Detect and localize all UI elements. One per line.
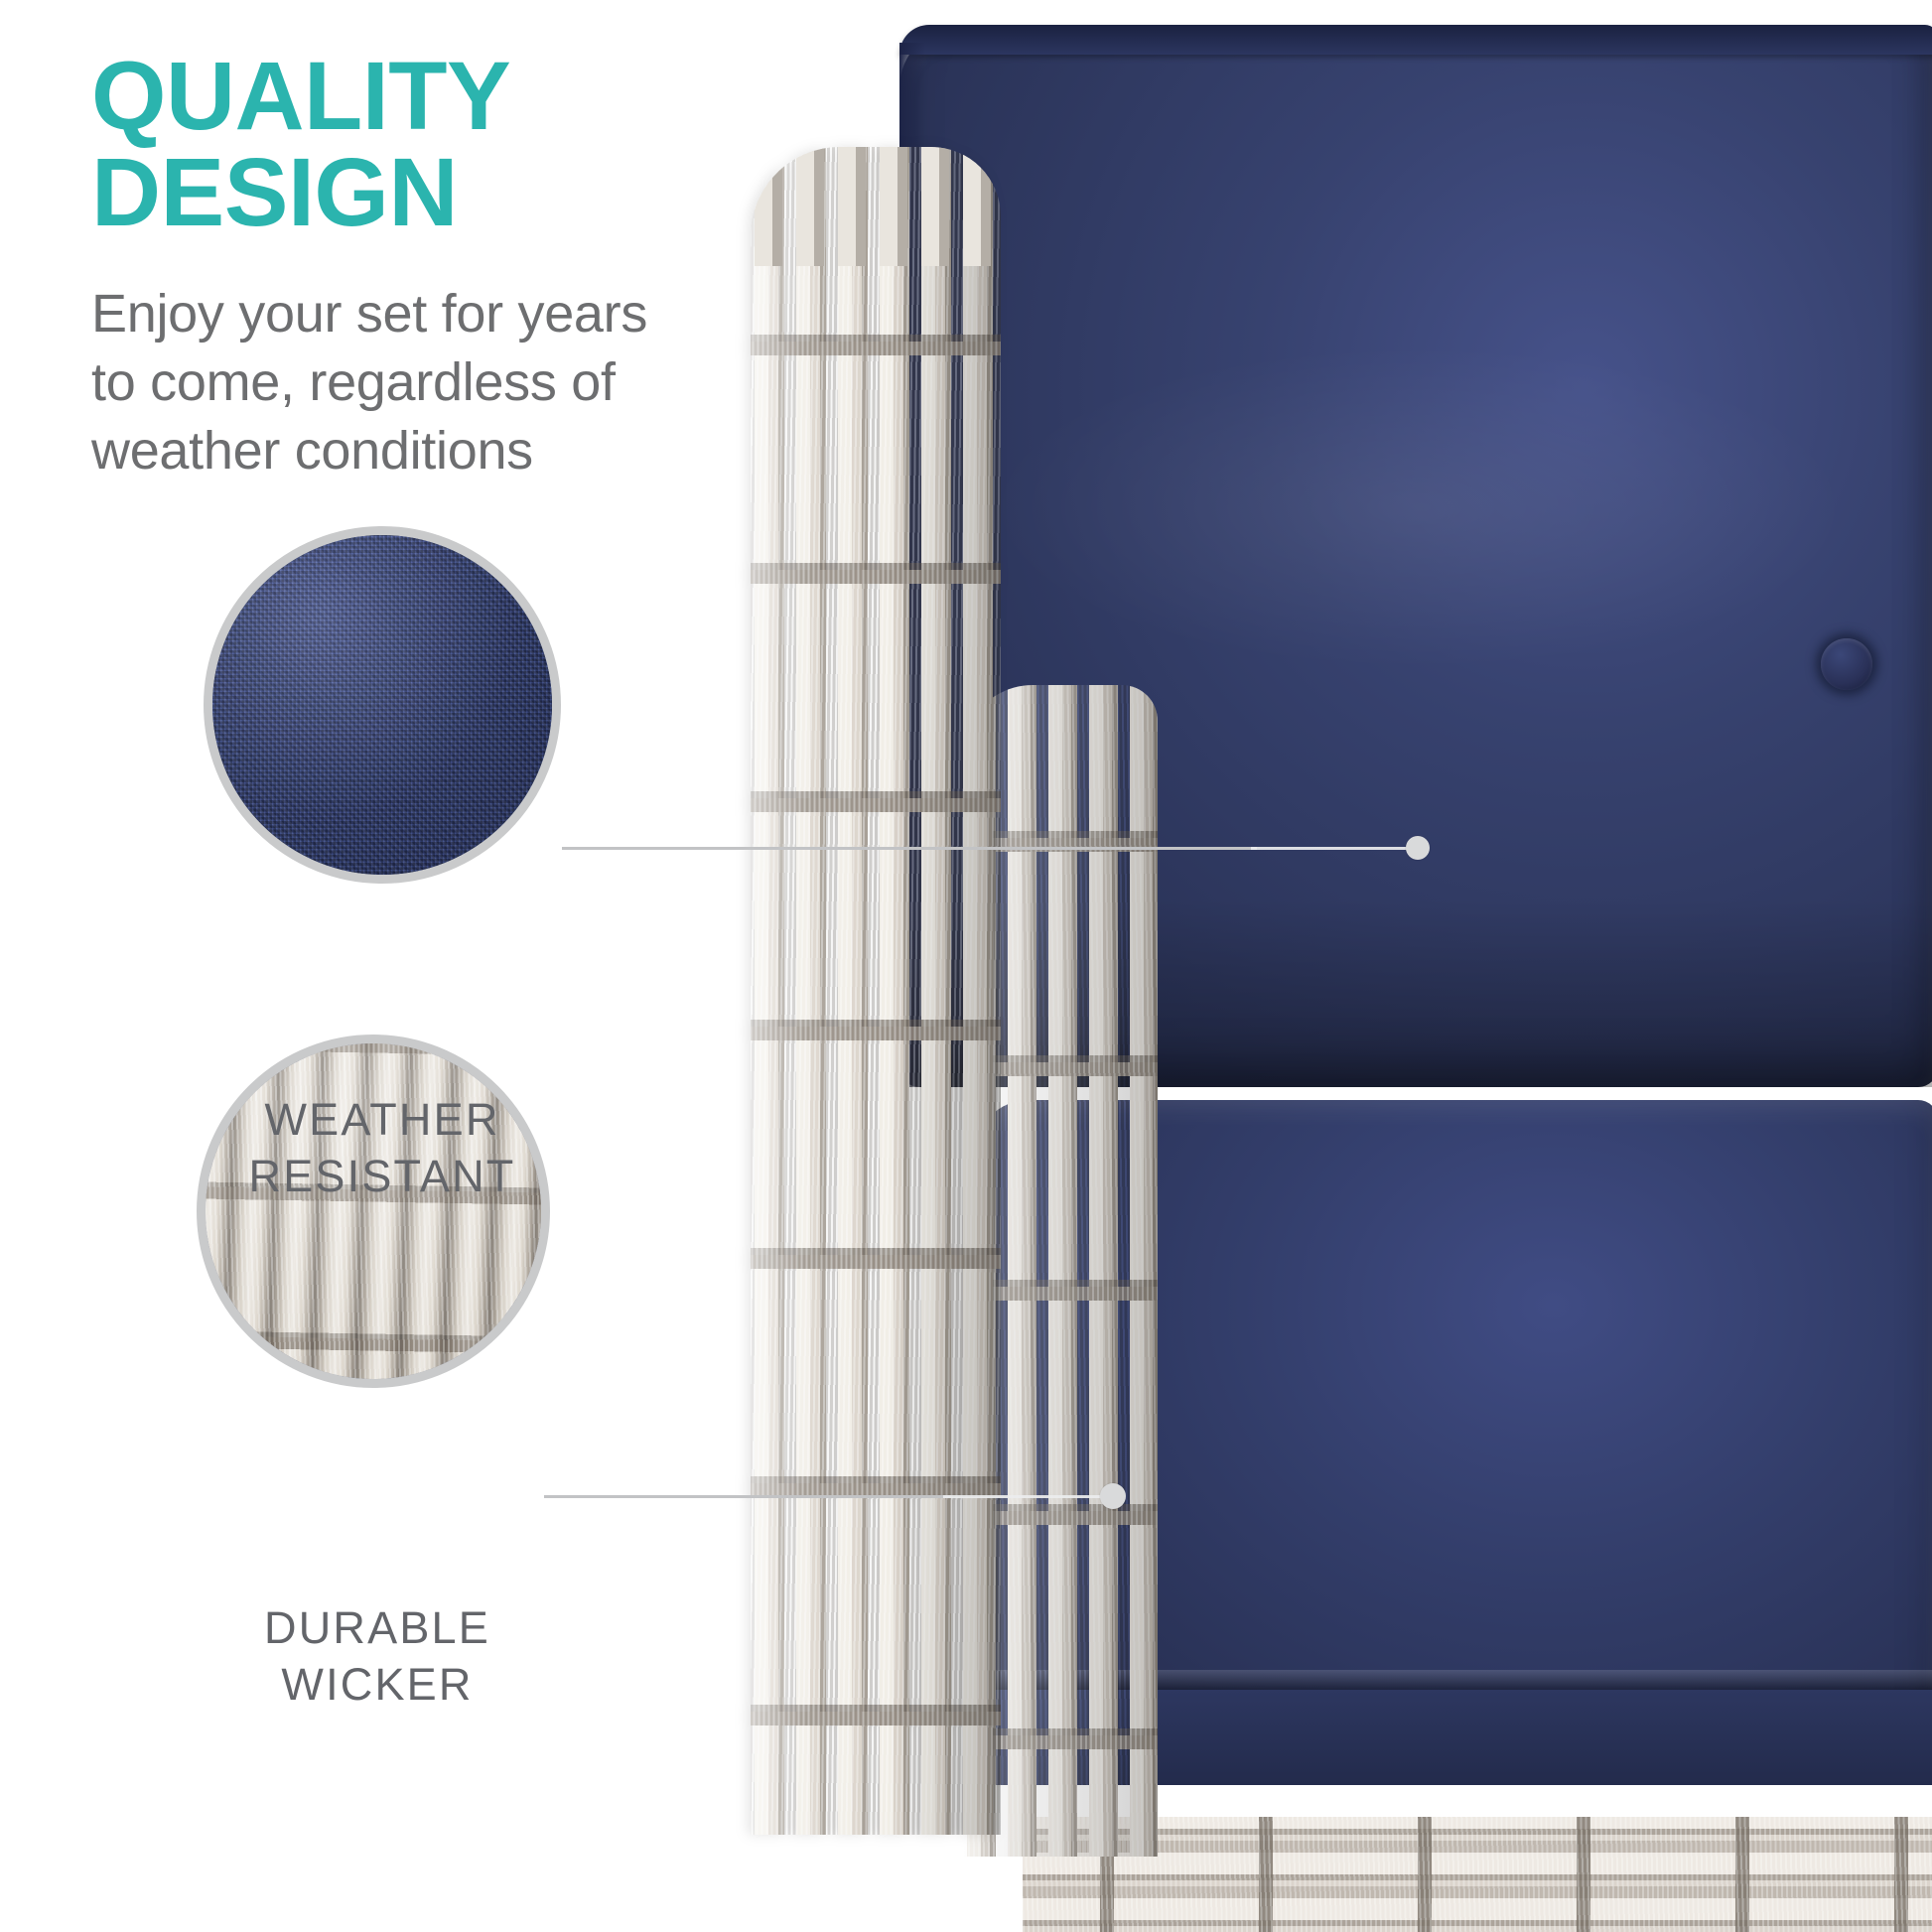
callout-dot-weather-resistant [1406,836,1430,860]
page-subheadline: Enjoy your set for years to come, regard… [91,280,766,485]
product-feature-graphic: WEATHER RESISTANT DURABLE WICKER QUALITY… [0,0,1932,1932]
callout-dot-durable-wicker [1100,1483,1126,1509]
patio-chair-photo [715,0,1932,1932]
leader-line-weather-resistant [562,847,1257,850]
label-weather-resistant: WEATHER RESISTANT [154,1092,611,1204]
navy-fabric-texture [212,535,552,875]
leader-line-durable-wicker [544,1495,951,1498]
cushion-highlight [983,344,1856,671]
swatch-weather-resistant [204,526,561,884]
fabric-sheen [212,535,552,875]
leader-line-weather-resistant-end [1251,847,1420,850]
cushion-tuft-button [1821,638,1872,690]
wicker-arm-shading [751,147,1001,1835]
page-headline: QUALITY DESIGN [91,48,846,240]
cushion-piping [899,25,1932,55]
wicker-arm-panel [751,147,1001,1835]
leader-line-durable-wicker-end [943,1495,1112,1498]
wicker-base [1023,1817,1932,1932]
swatch-durable-wicker [197,1035,550,1388]
wicker-base-grain [1023,1817,1932,1932]
label-durable-wicker: DURABLE WICKER [149,1600,606,1713]
